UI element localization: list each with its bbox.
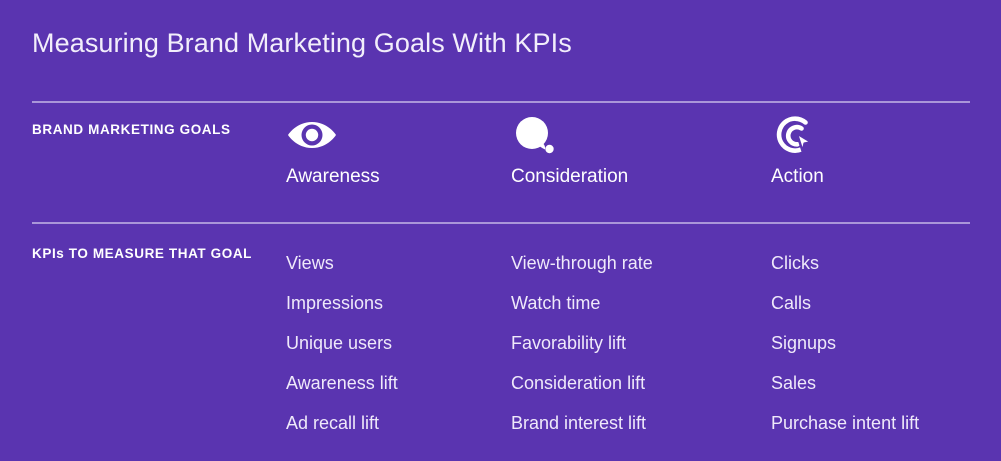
goal-name-awareness: Awareness xyxy=(286,166,380,188)
goal-name-action: Action xyxy=(771,166,824,188)
list-item: View-through rate xyxy=(511,243,653,283)
divider-middle xyxy=(32,222,970,224)
list-item: Purchase intent lift xyxy=(771,403,919,443)
goal-column-action: Action xyxy=(771,116,824,188)
goal-column-awareness: Awareness xyxy=(286,116,380,188)
list-item: Watch time xyxy=(511,283,653,323)
row-label-kpis-to-measure: KPIs TO MEASURE THAT GOAL xyxy=(32,243,262,264)
list-item: Signups xyxy=(771,323,919,363)
kpi-column-awareness: Views Impressions Unique users Awareness… xyxy=(286,243,398,443)
speech-bubble-icon xyxy=(511,116,563,156)
cursor-click-icon xyxy=(771,116,823,156)
kpi-column-action: Clicks Calls Signups Sales Purchase inte… xyxy=(771,243,919,443)
list-item: Awareness lift xyxy=(286,363,398,403)
row-label-brand-marketing-goals: BRAND MARKETING GOALS xyxy=(32,119,262,140)
kpi-column-consideration: View-through rate Watch time Favorabilit… xyxy=(511,243,653,443)
list-item: Views xyxy=(286,243,398,283)
list-item: Unique users xyxy=(286,323,398,363)
goal-column-consideration: Consideration xyxy=(511,116,628,188)
list-item: Sales xyxy=(771,363,919,403)
eye-icon xyxy=(286,116,338,156)
list-item: Consideration lift xyxy=(511,363,653,403)
list-item: Brand interest lift xyxy=(511,403,653,443)
list-item: Clicks xyxy=(771,243,919,283)
page-title: Measuring Brand Marketing Goals With KPI… xyxy=(32,28,572,59)
list-item: Ad recall lift xyxy=(286,403,398,443)
list-item: Calls xyxy=(771,283,919,323)
divider-top xyxy=(32,101,970,103)
list-item: Impressions xyxy=(286,283,398,323)
list-item: Favorability lift xyxy=(511,323,653,363)
kpi-infographic: Measuring Brand Marketing Goals With KPI… xyxy=(0,0,1001,461)
goal-name-consideration: Consideration xyxy=(511,166,628,188)
